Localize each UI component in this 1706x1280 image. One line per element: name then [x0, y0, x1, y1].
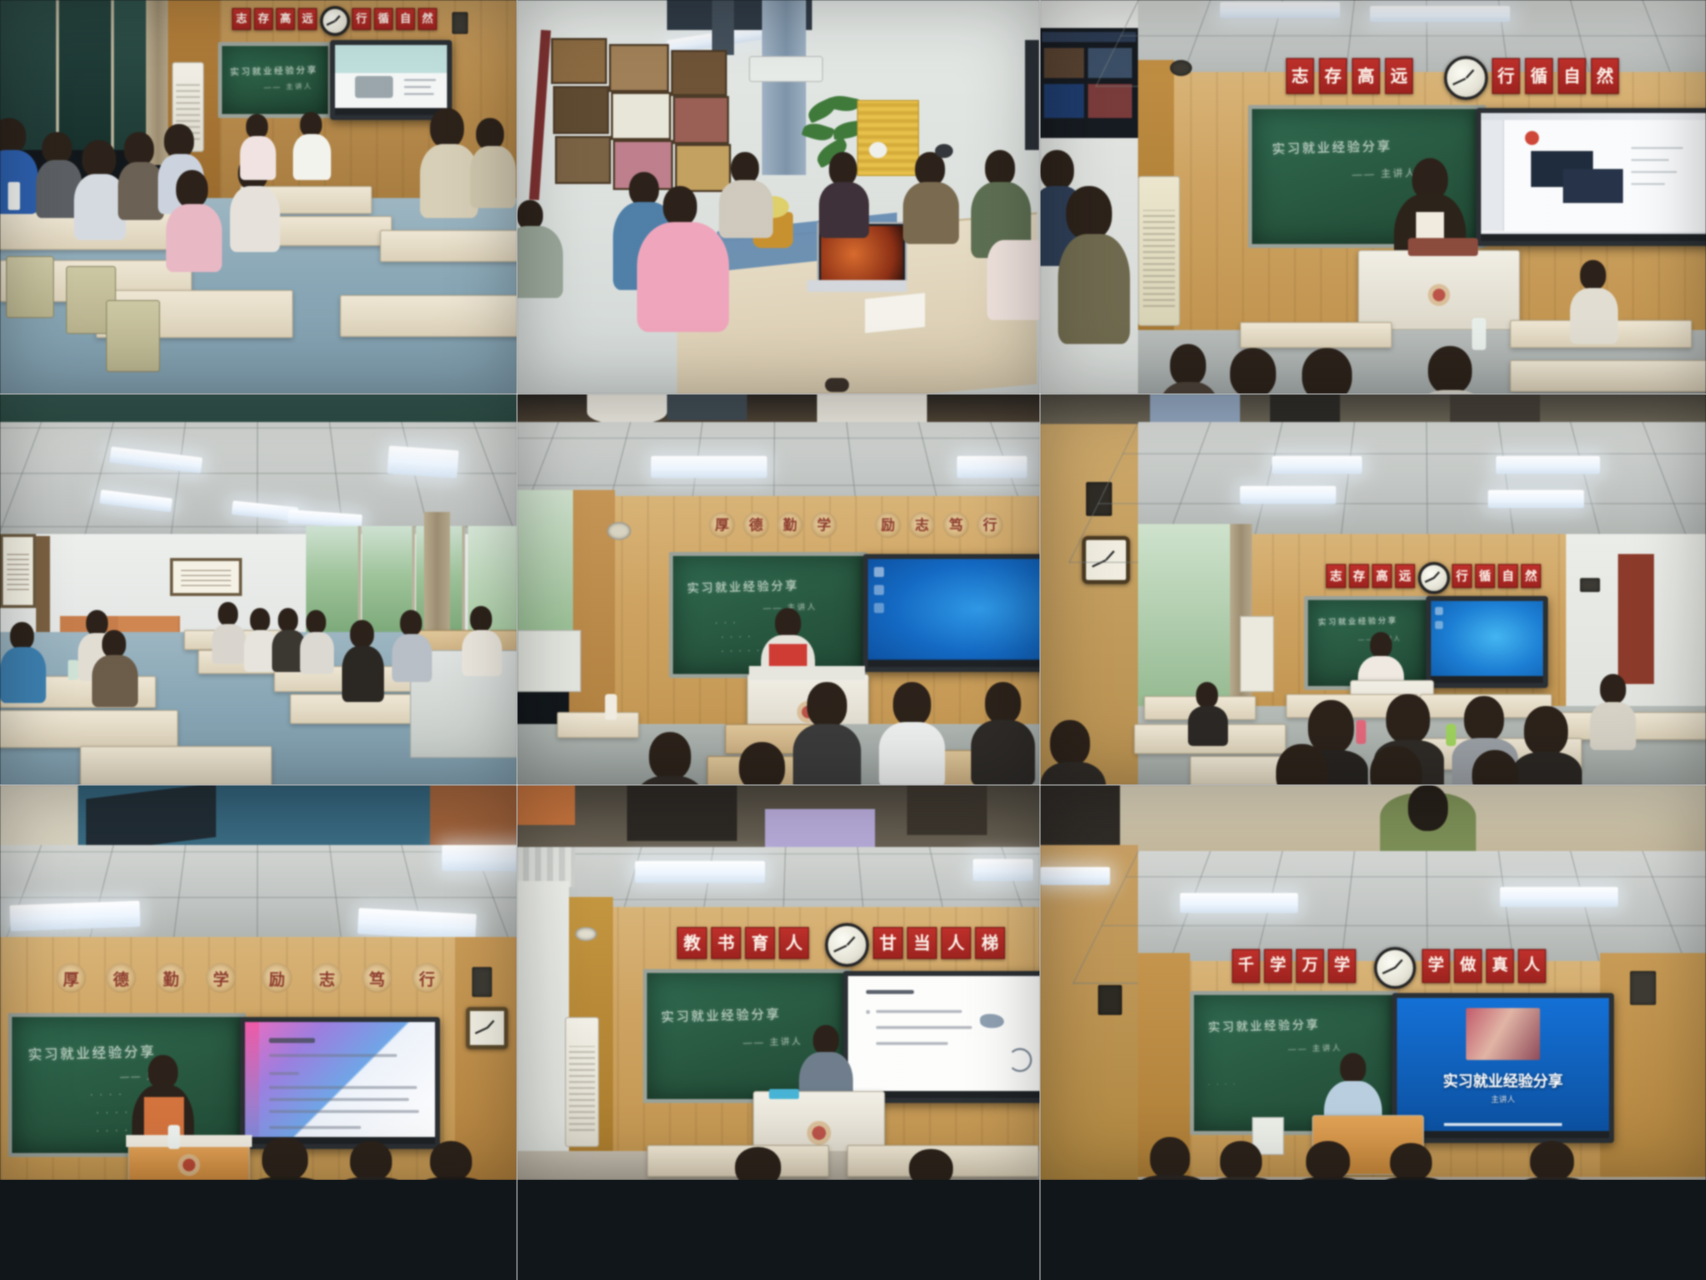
wall-clock	[1418, 562, 1450, 594]
bookshelf	[547, 34, 747, 194]
water-bottle	[68, 660, 78, 680]
curtain	[424, 512, 450, 638]
wall-medallions-left: 厚 德 勤 学	[709, 512, 837, 538]
overlap-strip	[517, 394, 1040, 424]
gradient-slide-classroom-scene: 厚 德 勤 学 励 志 笃 行 实习就业经验分享 —— 主讲人 · · · · …	[0, 785, 517, 1180]
radiator	[517, 630, 581, 692]
collage-cell-bottom-left[interactable]: 厚 德 勤 学 励 志 笃 行 实习就业经验分享 —— 主讲人 · · · · …	[0, 785, 517, 1180]
overlap-strip	[1040, 785, 1706, 853]
wall-speaker-icon	[1170, 60, 1192, 76]
collage-cell-top-right[interactable]: 志 存 高 远 行 循 自 然 实习就业经验分享 —— 主讲人	[1040, 0, 1706, 394]
blackboard-text: 实习就业经验分享	[1272, 135, 1392, 157]
slide-content	[1481, 113, 1706, 241]
slide-content	[335, 45, 447, 115]
wall-speaker-icon	[575, 927, 597, 941]
wall-banner-left: 教 书 育 人	[677, 927, 809, 959]
grid-seam-vertical	[1039, 0, 1041, 1280]
blackboard: 实习就业经验分享 —— 主讲人	[218, 42, 332, 118]
white-slide-classroom-scene: 教 书 育 人 甘 当 人 梯 实习就业经验分享 —— 主讲人	[517, 785, 1040, 1180]
side-wall	[517, 881, 569, 1171]
face-mask	[869, 142, 887, 158]
water-bottle	[1356, 720, 1366, 744]
overlap-strip	[0, 785, 517, 851]
collage-cell-top-left[interactable]: 志 存 高 远 行 循 自 然 实习就业经验分享 —— 主讲人	[0, 0, 517, 394]
blackboard-subtext: —— 主讲人	[264, 81, 313, 92]
wall-banner-left: 志 存 高 远	[232, 8, 317, 30]
window	[517, 490, 573, 650]
blackboard-text: 实习就业经验分享	[230, 63, 318, 78]
collage-cell-top-center[interactable]	[517, 0, 1040, 394]
wall-clock	[825, 923, 869, 967]
wall-banner-left: 志 存 高 远	[1326, 564, 1415, 588]
mouse	[825, 378, 849, 392]
display-screen	[1476, 108, 1706, 246]
blackboard-text: 实习就业经验分享	[661, 1003, 781, 1025]
wall-speaker-icon	[1580, 578, 1600, 592]
ceiling-light	[651, 456, 767, 478]
air-conditioner	[749, 56, 823, 82]
podium-top	[749, 666, 865, 680]
daylight-classroom-scene	[0, 394, 517, 785]
collage-cell-bottom-center[interactable]: 教 书 育 人 甘 当 人 梯 实习就业经验分享 —— 主讲人	[517, 785, 1040, 1180]
podium	[1358, 250, 1520, 330]
blackboard-text: 实习就业经验分享	[687, 577, 799, 597]
windows-desktop	[1431, 601, 1543, 683]
display-screen	[863, 554, 1040, 672]
display-screen: 实习就业经验分享 主讲人	[1392, 993, 1614, 1143]
air-conditioner	[1138, 176, 1180, 326]
ceiling-light	[10, 901, 141, 932]
ceiling-light	[973, 859, 1033, 881]
notice-board	[1240, 616, 1274, 692]
meeting-room-scene	[517, 0, 1040, 394]
water-bottle	[1472, 318, 1486, 350]
wall-clock	[1374, 947, 1416, 989]
wall-clock	[320, 6, 350, 36]
blue-title-slide-classroom-scene: 千 学 万 学 学 做 真 人 实习就业经验分享 —— 主讲人 · · · ·	[1040, 785, 1706, 1180]
overlap-strip	[517, 785, 1040, 851]
slide-photo	[1466, 1008, 1540, 1060]
wall-medallions-right: 励 志 笃 行	[875, 512, 1003, 538]
ceiling-light	[957, 456, 1027, 478]
desk	[80, 746, 272, 785]
ceiling-light	[1500, 887, 1618, 907]
photo-collage: 志 存 高 远 行 循 自 然 实习就业经验分享 —— 主讲人	[0, 0, 1706, 1280]
wall-banner-right: 行 循 自 然	[1452, 564, 1541, 588]
wall-speaker-icon	[607, 522, 631, 540]
podium-top	[126, 1135, 252, 1147]
ceiling-light	[635, 861, 765, 883]
wall-tv-edge	[1025, 40, 1039, 150]
wall-panel	[857, 100, 919, 176]
podium-label	[769, 1089, 799, 1099]
ceiling-light	[1496, 456, 1600, 474]
ceiling-light	[1370, 6, 1510, 22]
wall-medallions-right: 励 志 笃 行	[262, 963, 442, 993]
face-mask	[935, 144, 953, 158]
display-screen	[843, 971, 1040, 1103]
desk	[380, 230, 517, 262]
blue-title-slide: 实习就业经验分享 主讲人	[1397, 998, 1609, 1138]
ceiling-light	[1488, 490, 1584, 508]
blackboard-subtext: —— 主讲人	[1352, 164, 1417, 181]
ceiling-light	[1220, 2, 1340, 18]
wall-banner-left: 千 学 万 学	[1232, 949, 1356, 983]
blackboard-text: 实习就业经验分享	[28, 1041, 156, 1064]
chair	[6, 256, 54, 318]
slide-content	[245, 1022, 435, 1144]
collage-cell-middle-left[interactable]	[0, 394, 517, 785]
ceiling-light	[442, 845, 517, 871]
display-screen	[330, 40, 452, 120]
blackboard-text: 实习就业经验分享	[1208, 1016, 1320, 1036]
slide-content	[848, 976, 1040, 1098]
water-bottle	[605, 694, 617, 720]
wall-banner-right: 甘 当 人 梯	[873, 927, 1005, 959]
podium-top	[1408, 238, 1478, 256]
desk	[1240, 322, 1392, 348]
classroom-evening-scene: 志 存 高 远 行 循 自 然 实习就业经验分享 —— 主讲人	[0, 0, 517, 394]
ceiling-light	[387, 446, 459, 479]
blackboard-subtext: —— 主讲人	[1288, 1042, 1343, 1054]
grid-seam-horizontal	[0, 784, 1706, 786]
windows-desktop	[868, 559, 1040, 667]
chair	[106, 300, 160, 372]
water-bottle	[1446, 724, 1456, 746]
water-bottle	[8, 182, 20, 210]
wall-banner-right: 行 循 自 然	[352, 8, 437, 30]
slide-subtitle: 主讲人	[1491, 1094, 1515, 1105]
wall-medallions-left: 厚 德 勤 学	[56, 963, 236, 993]
desk	[340, 295, 517, 337]
wall-speaker-icon	[1630, 971, 1656, 1005]
medallion-classroom-scene: 厚 德 勤 学 励 志 笃 行 实习就业经验分享 —— 主讲人 · · · · …	[517, 394, 1040, 785]
ceiling-light	[1240, 486, 1336, 504]
desk	[0, 710, 178, 748]
display-screen	[240, 1017, 440, 1149]
wall-panel	[36, 536, 50, 636]
wall-speaker-icon	[472, 967, 492, 997]
grid-seam-horizontal	[0, 393, 1706, 395]
blackboard-subtext: —— 主讲人	[743, 1034, 803, 1049]
desk	[1510, 360, 1706, 392]
collage-cell-middle-right[interactable]: 志 存 高 远 行 循 自 然 实习就业经验分享 —— 主讲人	[1040, 394, 1706, 785]
overlap-strip	[0, 394, 517, 424]
door	[1618, 554, 1654, 684]
water-bottle	[168, 1125, 180, 1149]
wall-scroll	[170, 558, 242, 596]
wall-clock	[466, 1007, 508, 1049]
wide-classroom-scene: 志 存 高 远 行 循 自 然 实习就业经验分享 —— 主讲人	[1040, 394, 1706, 785]
wall-banner-left: 志 存 高 远	[1286, 58, 1413, 94]
ceiling-light	[1180, 893, 1298, 913]
slide-title: 实习就业经验分享	[1443, 1070, 1563, 1091]
grid-seam-vertical	[516, 0, 518, 1280]
wall-banner-right: 学 做 真 人	[1422, 949, 1546, 983]
wall-speaker-icon	[452, 12, 468, 34]
laptop-base	[807, 280, 907, 292]
ceiling-light	[1272, 456, 1362, 474]
desk	[557, 712, 639, 738]
collage-cell-bottom-right[interactable]: 千 学 万 学 学 做 真 人 实习就业经验分享 —— 主讲人 · · · ·	[1040, 785, 1706, 1180]
blackboard-text: 实习就业经验分享	[1318, 615, 1398, 628]
collage-cell-middle-center[interactable]: 厚 德 勤 学 励 志 笃 行 实习就业经验分享 —— 主讲人 · · · · …	[517, 394, 1040, 785]
lecture-podium-scene: 志 存 高 远 行 循 自 然 实习就业经验分享 —— 主讲人	[1040, 0, 1706, 394]
air-conditioner	[565, 1017, 599, 1147]
wall-clock	[1444, 56, 1488, 100]
paper-notes	[865, 293, 925, 333]
display-screen	[1426, 596, 1548, 688]
curtain	[762, 0, 806, 175]
framed-art	[0, 534, 36, 608]
wall-banner-right: 行 循 自 然	[1492, 58, 1619, 94]
